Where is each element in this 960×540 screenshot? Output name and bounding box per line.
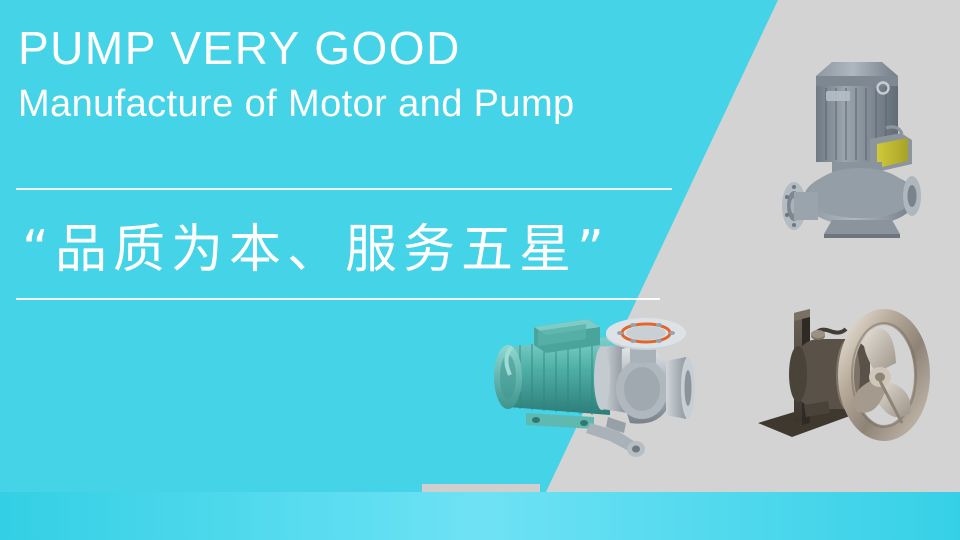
divider-bottom <box>16 298 660 300</box>
slogan-text: “品质为本、服务五星” <box>22 196 682 292</box>
bottom-accent-band <box>0 492 960 540</box>
panel-accent-tab <box>422 484 540 492</box>
divider-top <box>16 188 672 190</box>
page-subtitle: Manufacture of Motor and Pump <box>18 78 738 130</box>
headline-block: PUMP VERY GOOD Manufacture of Motor and … <box>18 18 738 130</box>
product-image-submersible-mixer <box>752 295 952 465</box>
promo-banner: PUMP VERY GOOD Manufacture of Motor and … <box>0 0 960 540</box>
product-image-vertical-inline-pump <box>760 40 950 240</box>
page-title: PUMP VERY GOOD <box>18 18 738 78</box>
product-image-centrifugal-pump <box>490 305 725 465</box>
